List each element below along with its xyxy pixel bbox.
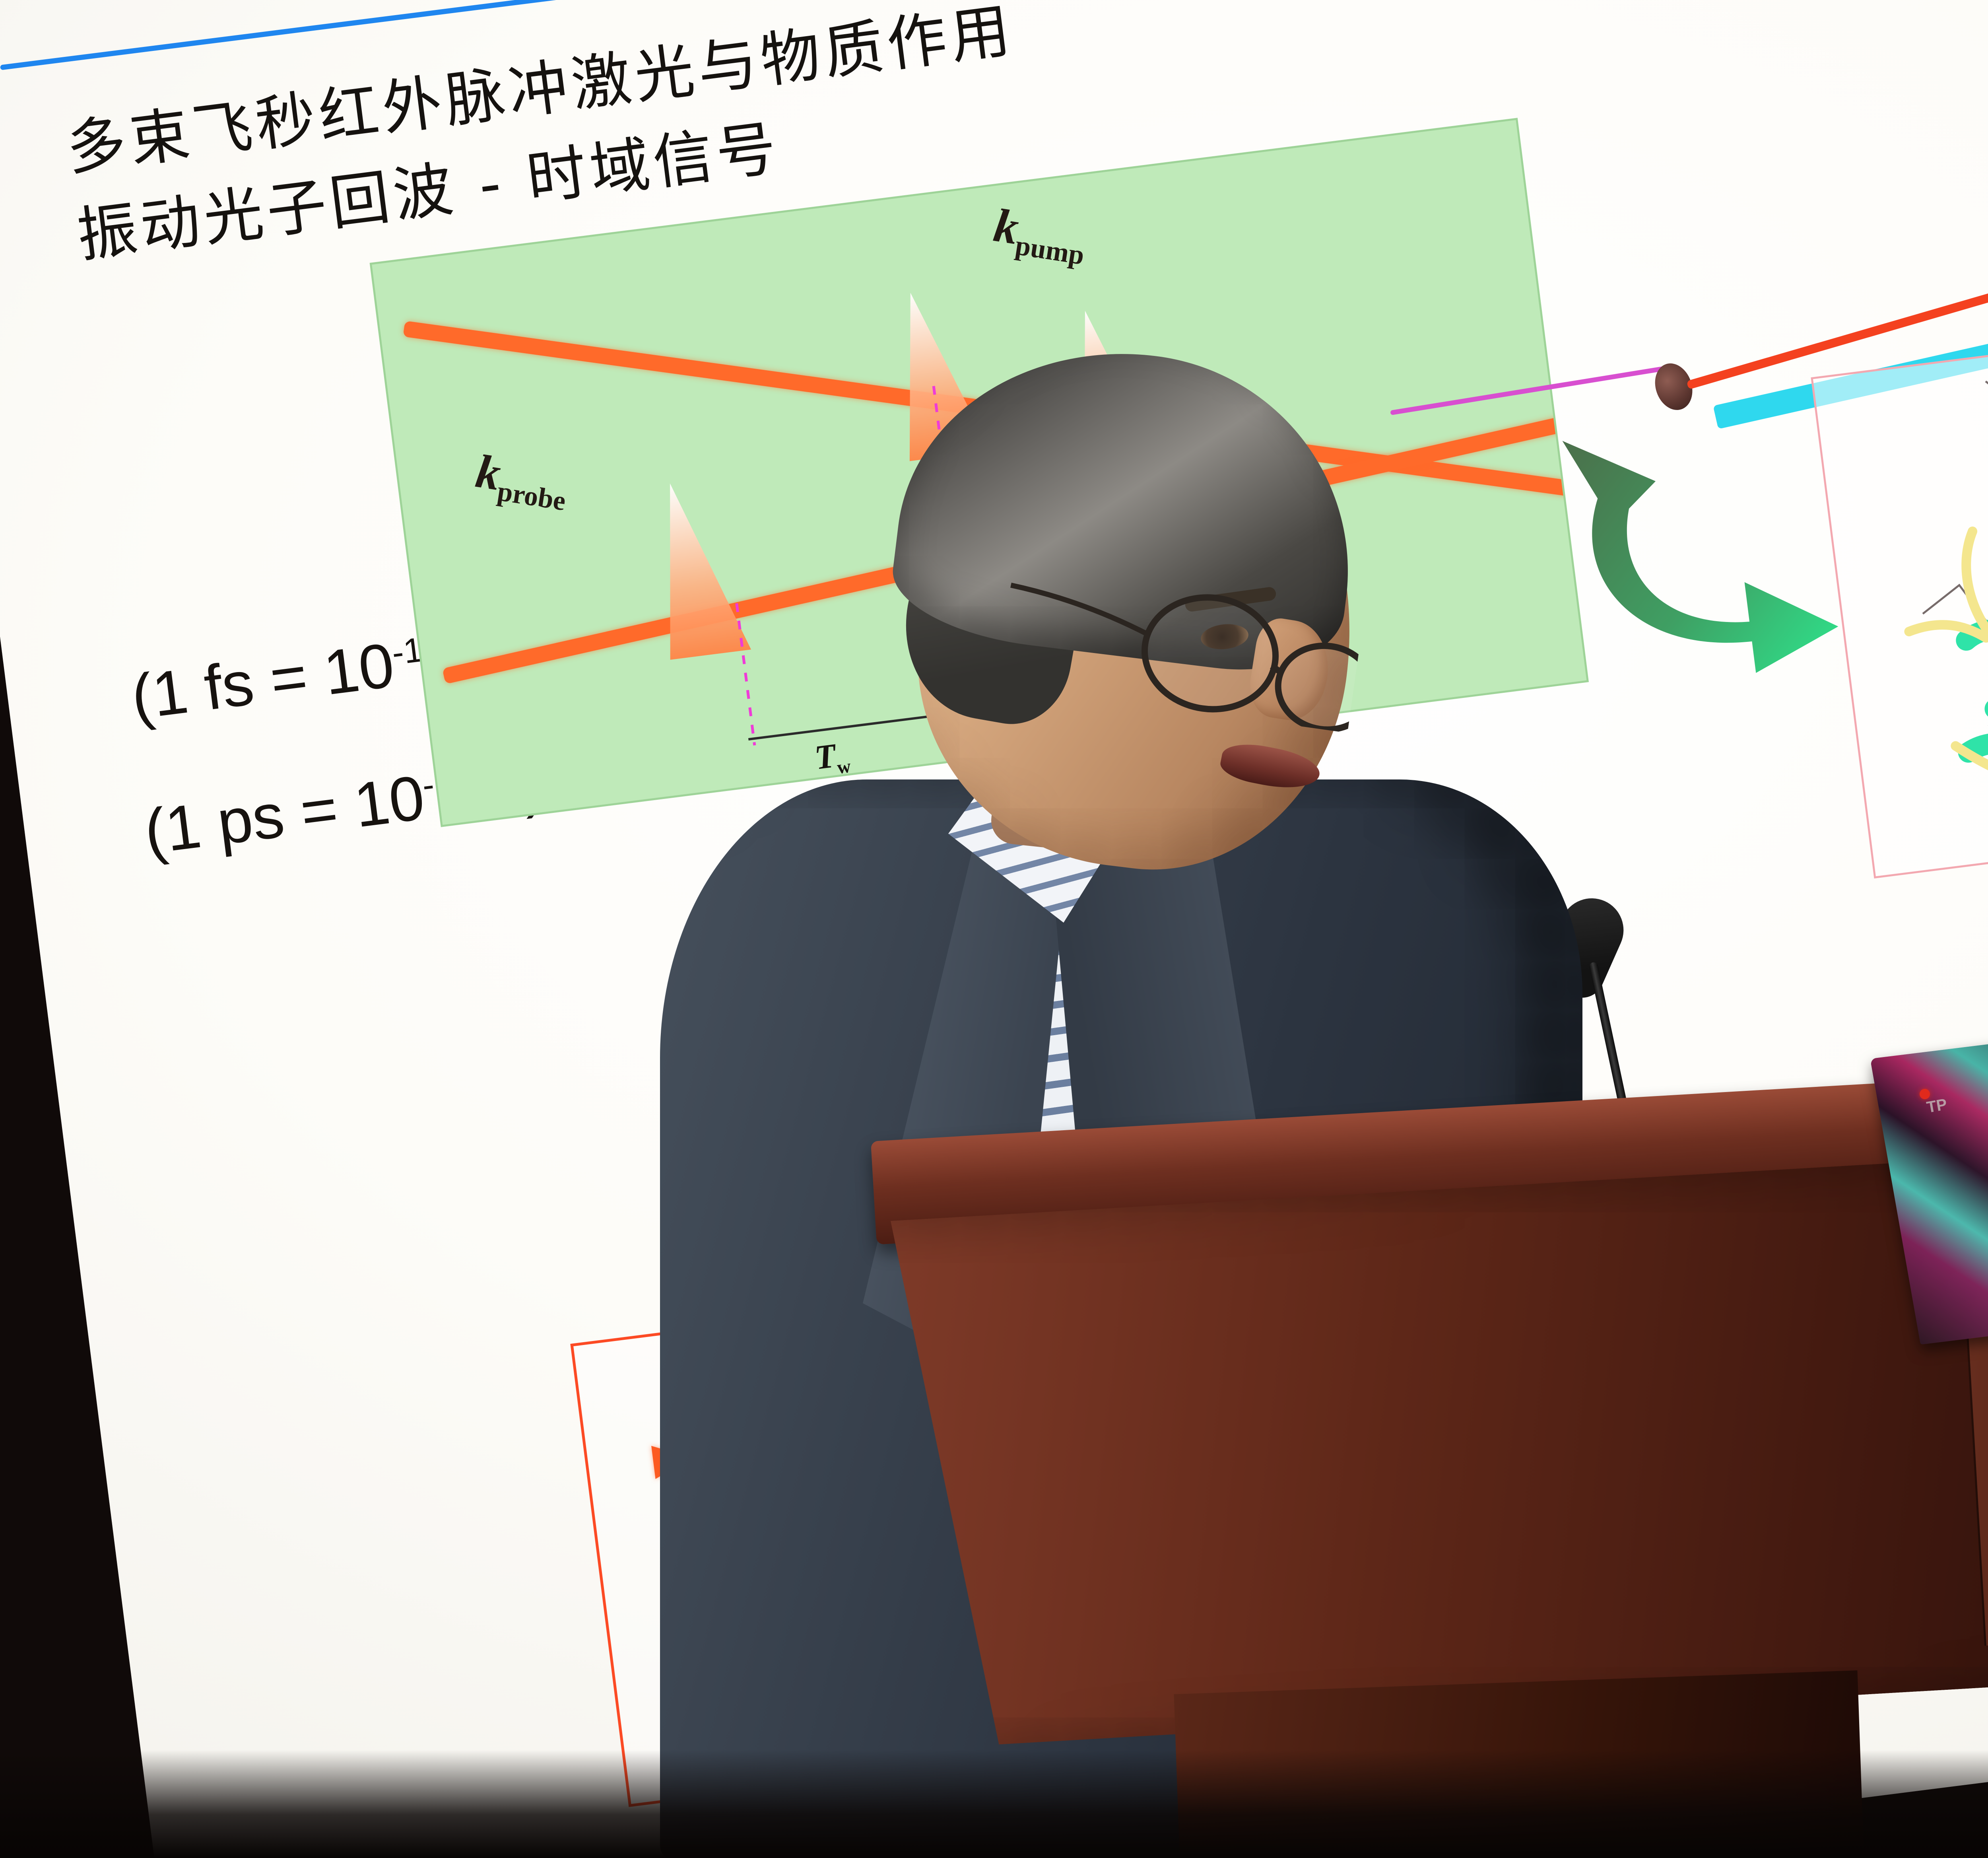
podium-front-face: [891, 1146, 1988, 1749]
k-pump-label: kpump: [990, 198, 1091, 272]
protein-structure-drawing: [1813, 317, 1988, 877]
k-probe-label: kprobe: [472, 443, 572, 517]
k-probe-subscript: probe: [495, 476, 568, 517]
presentation-photo: 多束飞秒红外脉冲激光与物质作用 振动光子回波 - 时域信号 飞秒二维红外(2D …: [0, 0, 1988, 1858]
formula-fs-head: (1 fs = 10: [128, 630, 398, 733]
k-pump-subscript: pump: [1013, 230, 1086, 271]
svg-text:TP: TP: [1925, 1096, 1948, 1116]
foreground-shadow: [0, 1750, 1988, 1858]
formula-ps-head: (1 ps = 10: [141, 762, 429, 867]
